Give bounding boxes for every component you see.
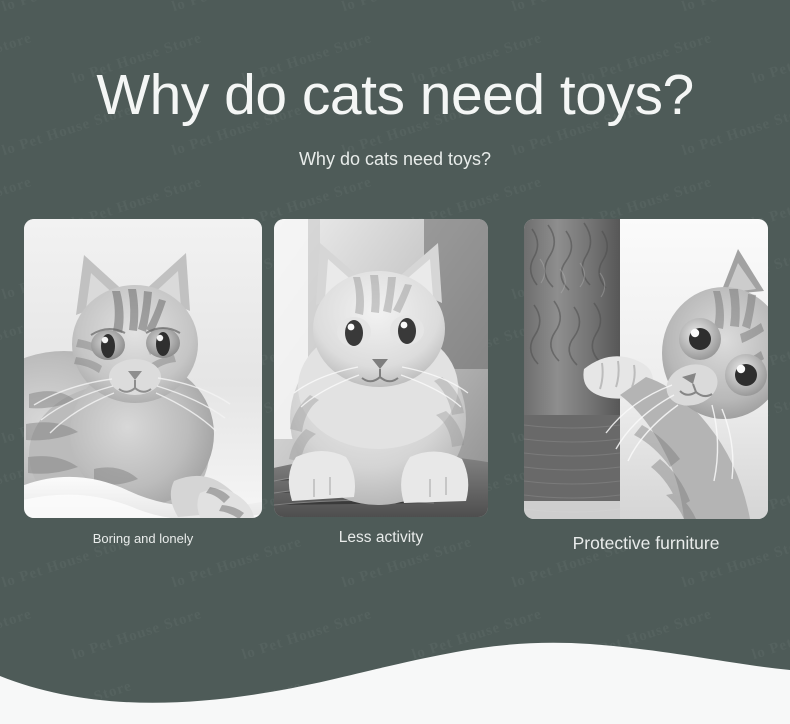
- cat-lying-photo: [24, 219, 262, 518]
- feature-panel-activity[interactable]: [274, 219, 488, 517]
- page-title: Why do cats need toys?: [0, 60, 790, 130]
- promo-banner: lo Pet House Storelo Pet House Storelo P…: [0, 0, 790, 724]
- cat-scratching-photo: [524, 219, 768, 519]
- feature-caption-boring: Boring and lonely: [24, 531, 262, 546]
- feature-panel-boring[interactable]: [24, 219, 262, 518]
- feature-caption-activity: Less activity: [274, 529, 488, 547]
- bottom-wave-divider: [0, 634, 790, 724]
- page-subtitle: Why do cats need toys?: [0, 146, 790, 172]
- cat-sitting-photo: [274, 219, 488, 517]
- feature-panel-furniture[interactable]: [524, 219, 768, 519]
- feature-caption-furniture: Protective furniture: [524, 533, 768, 554]
